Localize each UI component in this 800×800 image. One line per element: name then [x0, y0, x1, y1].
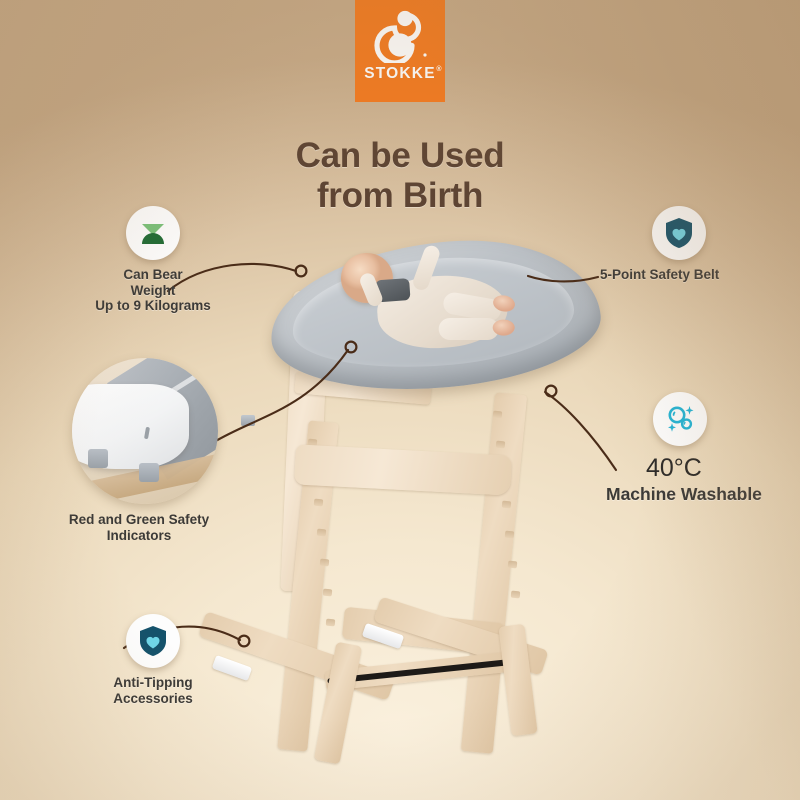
feature-icon-badge — [126, 206, 180, 260]
pointer-endpoint-weight — [296, 266, 307, 277]
feature-can-bear-weight: Can Bear Weight Up to 9 Kilograms — [58, 206, 248, 314]
stokke-logo: STOKKE® — [355, 0, 445, 102]
shield-heart-icon — [138, 625, 168, 657]
feature-icon-badge — [653, 392, 707, 446]
pointer-line-belt — [528, 276, 598, 281]
feature-label: Can Bear Weight Up to 9 Kilograms — [58, 267, 248, 314]
wash-temperature: 40°C — [606, 454, 800, 483]
feature-safety-belt: 5-Point Safety Belt — [600, 206, 800, 283]
stokke-wordmark: STOKKE® — [364, 65, 436, 83]
shield-heart-icon — [664, 217, 694, 249]
inset-label: Red and Green Safety Indicators — [24, 512, 254, 544]
feature-anti-tipping: Anti-Tipping Accessories — [58, 614, 248, 706]
feature-icon-badge — [652, 206, 706, 260]
feature-icon-badge — [126, 614, 180, 668]
pointer-endpoint-wash — [546, 386, 557, 397]
feature-machine-washable: 40°C Machine Washable — [606, 392, 800, 504]
pointer-endpoint-indicators — [346, 342, 357, 353]
feature-label: 5-Point Safety Belt — [600, 267, 800, 283]
feature-label: Machine Washable — [606, 484, 800, 504]
page-title: Can be Used from Birth — [0, 136, 800, 216]
closeup-indicator-tab-center — [139, 463, 159, 482]
pointer-line-indicators — [214, 350, 348, 442]
weight-hourglass-icon — [138, 218, 168, 248]
closeup-indicator-tab-left — [88, 449, 108, 468]
safety-indicator-closeup — [72, 358, 218, 504]
stokke-symbol-icon — [372, 9, 428, 63]
bubbles-sparkle-icon — [664, 403, 696, 435]
promo-image: STOKKE® Can be Used from Birth Can Bear … — [0, 0, 800, 800]
feature-label: Anti-Tipping Accessories — [58, 675, 248, 706]
page-title-line1: Can be Used — [0, 136, 800, 176]
